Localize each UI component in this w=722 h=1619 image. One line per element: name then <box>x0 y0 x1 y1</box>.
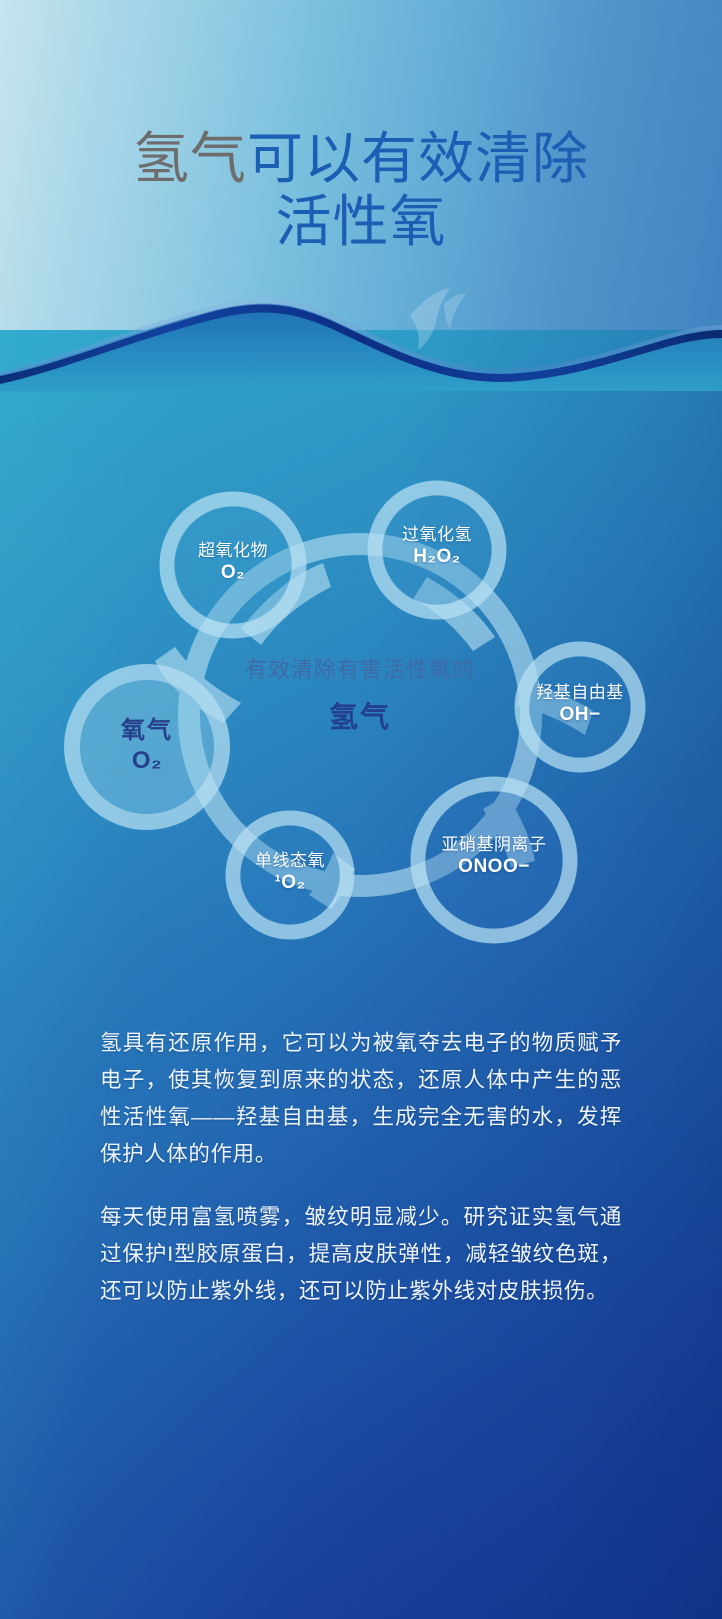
reactive-oxygen-bubble-diagram: 有效清除有害活性氧的 氢气 超氧化物 O₂ 过氧化氢 H₂O₂ 羟基自由基 OH… <box>55 465 667 965</box>
paragraph-reduction-effect: 氢具有还原作用，它可以为被氧夺去电子的物质赋予电子，使其恢复到原来的状态，还原人… <box>100 1025 622 1173</box>
poster-root: 氢气可以有效清除 活性氧 <box>0 0 722 1619</box>
title-part-blue: 可以有效清除 <box>247 127 589 192</box>
paragraph-skin-benefit: 每天使用富氢喷雾，皱纹明显减少。研究证实氢气通过保护I型胶原蛋白，提高皮肤弹性，… <box>100 1199 622 1310</box>
page-title: 氢气可以有效清除 活性氧 <box>0 128 722 255</box>
title-line-1: 氢气可以有效清除 <box>0 128 722 191</box>
title-line-2: 活性氧 <box>0 191 722 254</box>
title-part-gray: 氢气 <box>133 127 247 192</box>
water-surface-wave <box>0 286 722 391</box>
body-copy: 氢具有还原作用，它可以为被氧夺去电子的物质赋予电子，使其恢复到原来的状态，还原人… <box>100 1025 622 1310</box>
bubble-diagram-svg <box>55 465 667 965</box>
